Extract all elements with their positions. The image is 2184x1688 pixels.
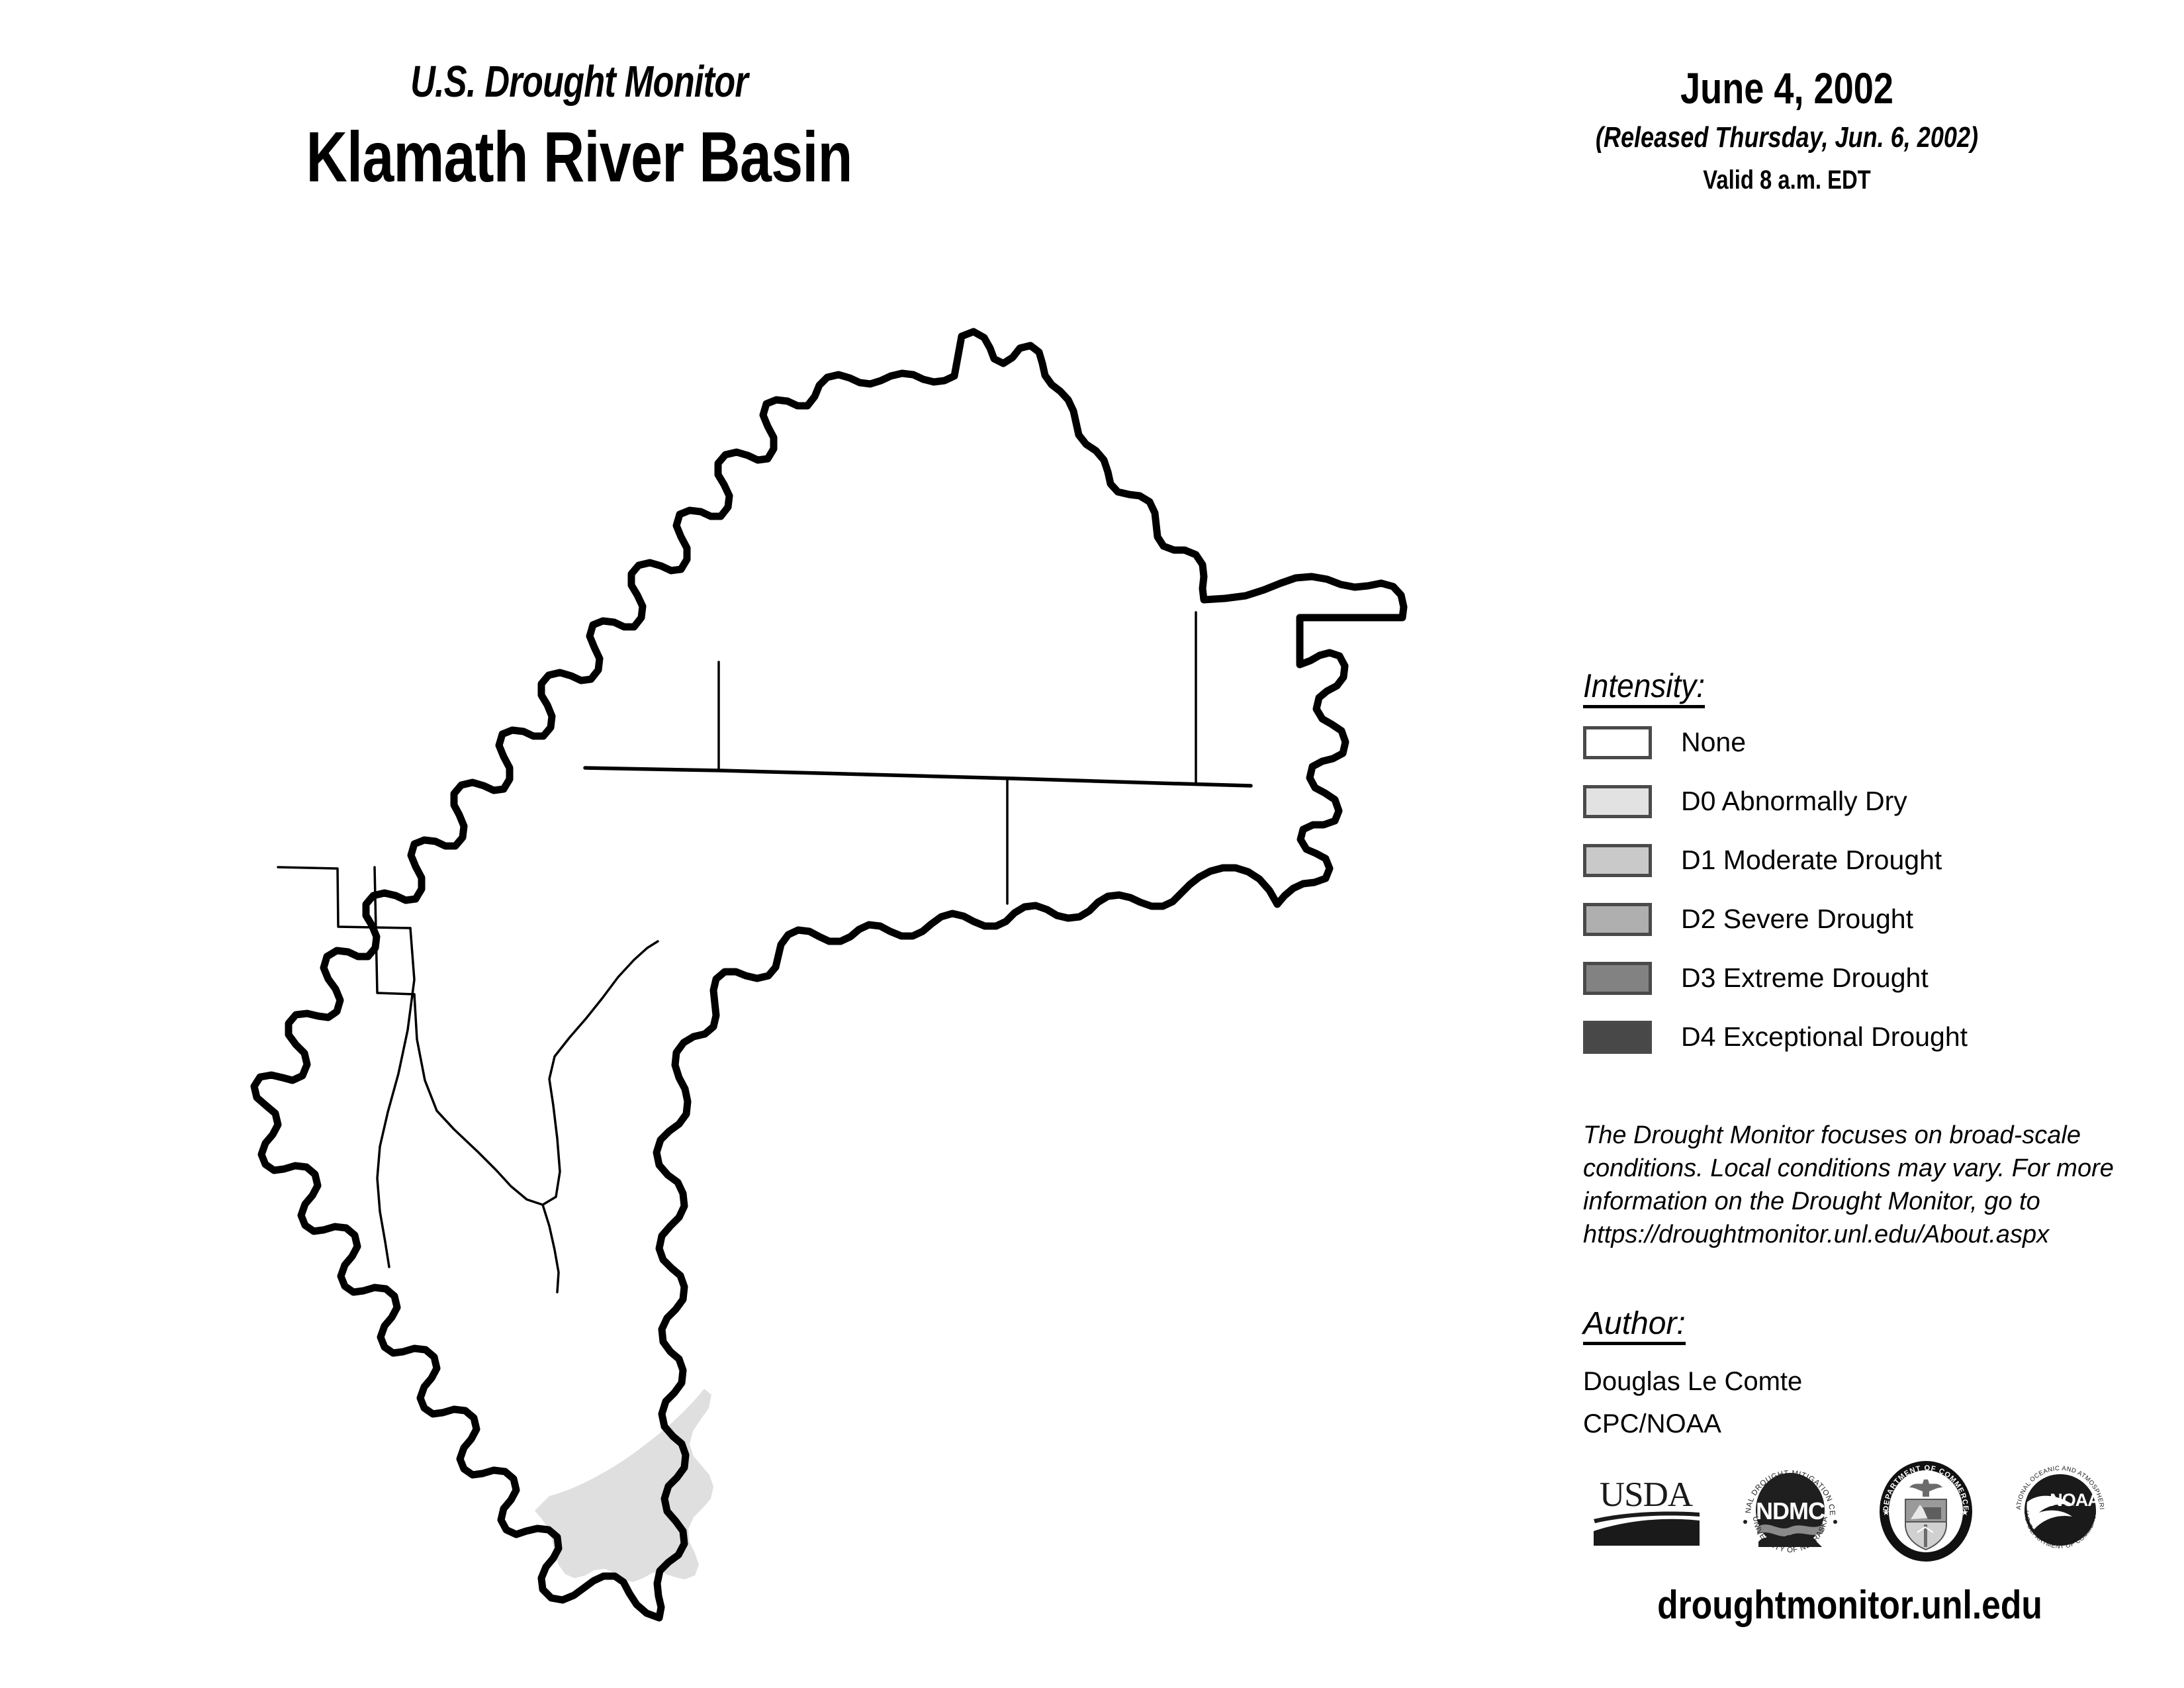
map-date: June 4, 2002 [1548,66,2026,110]
legend-label-d1: D1 Moderate Drought [1681,847,1942,874]
disclaimer-text: The Drought Monitor focuses on broad-sca… [1583,1119,2179,1252]
svg-text:★: ★ [1882,1507,1890,1517]
header-left: U.S. Drought Monitor Klamath River Basin [0,60,1158,198]
map-canvas [218,311,1423,1628]
svg-text:USDA: USDA [1600,1476,1693,1514]
legend-swatch-d3 [1583,962,1652,995]
legend-swatch-d4 [1583,1021,1652,1054]
legend-label-d4: D4 Exceptional Drought [1681,1023,1968,1051]
valid-time: Valid 8 a.m. EDT [1548,167,2026,193]
intensity-legend: Intensity: None D0 Abnormally Dry D1 Mod… [1583,669,2113,1062]
release-date: (Released Thursday, Jun. 6, 2002) [1548,123,2026,152]
legend-label-d0: D0 Abnormally Dry [1681,788,1907,815]
usda-logo: USDA [1588,1472,1704,1554]
department-of-commerce-seal: DEPARTMENT OF COMMERCE UNITED STATES OF … [1876,1458,1976,1568]
footer-website-url[interactable]: droughtmonitor.unl.edu [1619,1585,2081,1625]
legend-label-d3: D3 Extreme Drought [1681,964,1929,992]
svg-text:NOAA: NOAA [2050,1490,2100,1510]
legend-row-none[interactable]: None [1583,718,2113,767]
legend-heading: Intensity: [1583,669,1705,708]
disclaimer-line-2: conditions. Local conditions may vary. F… [1583,1152,2179,1185]
legend-row-d3[interactable]: D3 Extreme Drought [1583,954,2113,1003]
header-right: June 4, 2002 (Released Thursday, Jun. 6,… [1496,66,2078,193]
author-affiliation: CPC/NOAA [1583,1407,2113,1441]
disclaimer-line-1: The Drought Monitor focuses on broad-sca… [1583,1119,2179,1152]
legend-swatch-d0 [1583,785,1652,818]
author-heading: Author: [1583,1307,1686,1345]
disclaimer-line-3: information on the Drought Monitor, go t… [1583,1185,2179,1218]
noaa-logo: NOAA NATIONAL OCEANIC AND ATMOSPHERIC U.… [2009,1458,2111,1568]
partner-logos: USDA NDMC NATIONAL DROUGHT MITIGATION CE… [1588,1453,2111,1572]
legend-swatch-d1 [1583,844,1652,877]
legend-row-d2[interactable]: D2 Severe Drought [1583,895,2113,944]
author-block: Author: Douglas Le Comte CPC/NOAA [1583,1307,2113,1441]
ndmc-logo: NDMC NATIONAL DROUGHT MITIGATION CENTER … [1737,1458,1843,1568]
program-title: U.S. Drought Monitor [128,60,1031,104]
legend-swatch-d2 [1583,903,1652,936]
disclaimer-about-url[interactable]: https://droughtmonitor.unl.edu/About.asp… [1583,1218,2179,1251]
basin-map-svg[interactable] [218,311,1423,1628]
page-title: Klamath River Basin [116,116,1042,198]
author-name: Douglas Le Comte [1583,1365,2113,1399]
legend-row-d1[interactable]: D1 Moderate Drought [1583,836,2113,885]
svg-text:NDMC: NDMC [1756,1497,1825,1524]
legend-swatch-none [1583,726,1652,759]
klamath-river-basin-map[interactable] [218,311,1423,1628]
legend-row-d4[interactable]: D4 Exceptional Drought [1583,1013,2113,1062]
legend-label-d2: D2 Severe Drought [1681,906,1913,933]
klamath-basin-final [218,311,1423,1628]
legend-row-d0[interactable]: D0 Abnormally Dry [1583,777,2113,826]
legend-label-none: None [1681,729,1746,756]
svg-text:★: ★ [1961,1507,1969,1517]
